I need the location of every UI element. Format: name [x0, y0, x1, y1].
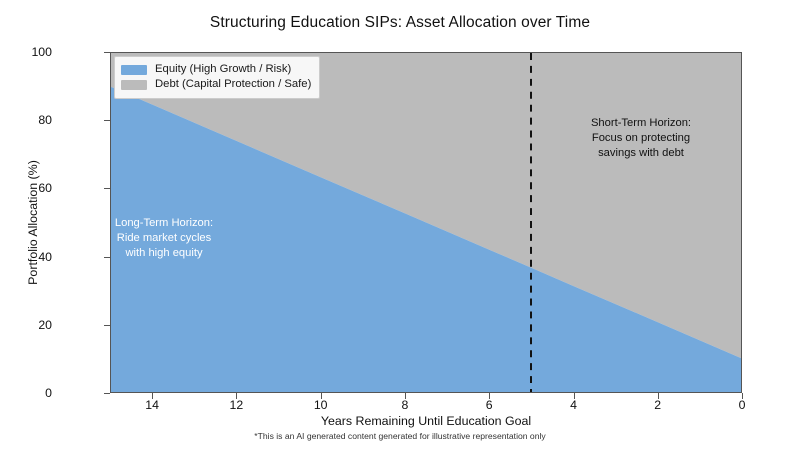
chart-figure: Structuring Education SIPs: Asset Alloca… — [0, 0, 800, 450]
x-tick-label-10: 10 — [296, 398, 346, 412]
legend-item-equity: Equity (High Growth / Risk) — [121, 62, 311, 77]
x-tick-mark-8 — [405, 393, 406, 399]
x-tick-label-4: 4 — [549, 398, 599, 412]
chart-legend: Equity (High Growth / Risk) Debt (Capita… — [114, 56, 320, 99]
y-tick-label-40: 40 — [0, 250, 52, 264]
x-tick-label-6: 6 — [464, 398, 514, 412]
y-tick-label-80: 80 — [0, 113, 52, 127]
chart-footnote: *This is an AI generated content generat… — [0, 431, 800, 441]
x-tick-mark-2 — [658, 393, 659, 399]
legend-swatch-equity — [121, 65, 147, 75]
annotation-short-term-horizon: Short-Term Horizon: Focus on protecting … — [551, 116, 731, 160]
legend-swatch-debt — [121, 80, 147, 90]
x-tick-label-12: 12 — [211, 398, 261, 412]
y-tick-label-0: 0 — [0, 386, 52, 400]
x-tick-mark-14 — [152, 393, 153, 399]
x-tick-label-2: 2 — [633, 398, 683, 412]
annotation-long-term-horizon: Long-Term Horizon: Ride market cycles wi… — [110, 216, 239, 260]
x-tick-mark-0 — [742, 393, 743, 399]
y-tick-label-20: 20 — [0, 318, 52, 332]
legend-item-debt: Debt (Capital Protection / Safe) — [121, 77, 311, 92]
y-tick-mark-0 — [104, 393, 110, 394]
plot-area: Long-Term Horizon: Ride market cycles wi… — [110, 52, 742, 393]
x-tick-mark-10 — [321, 393, 322, 399]
legend-label-debt: Debt (Capital Protection / Safe) — [155, 77, 311, 92]
x-tick-label-8: 8 — [380, 398, 430, 412]
legend-label-equity: Equity (High Growth / Risk) — [155, 62, 291, 77]
x-tick-mark-12 — [236, 393, 237, 399]
x-tick-label-14: 14 — [127, 398, 177, 412]
y-tick-label-60: 60 — [0, 181, 52, 195]
y-axis-label: Portfolio Allocation (%) — [26, 52, 44, 393]
x-tick-label-0: 0 — [717, 398, 767, 412]
x-tick-mark-6 — [489, 393, 490, 399]
x-axis-label: Years Remaining Until Education Goal — [110, 414, 742, 428]
x-tick-mark-4 — [574, 393, 575, 399]
y-tick-label-100: 100 — [0, 45, 52, 59]
chart-title: Structuring Education SIPs: Asset Alloca… — [0, 14, 800, 32]
